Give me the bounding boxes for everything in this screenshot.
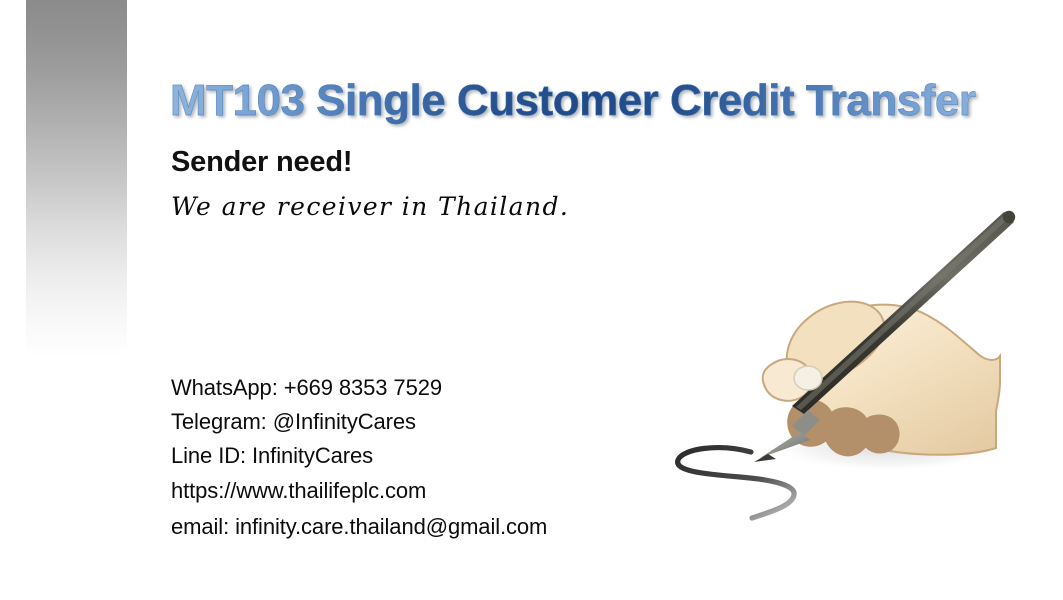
little-finger bbox=[860, 414, 899, 453]
pen-bead bbox=[794, 366, 822, 390]
page-title: MT103 Single Customer Credit Transfer bbox=[170, 78, 1010, 125]
contact-whatsapp: WhatsApp: +669 8353 7529 bbox=[171, 371, 547, 405]
left-gradient-bar bbox=[26, 0, 127, 356]
contact-email[interactable]: email: infinity.care.thailand@gmail.com bbox=[171, 509, 547, 545]
signature-squiggle bbox=[678, 448, 795, 518]
slide-canvas: MT103 Single Customer Credit Transfer Se… bbox=[0, 0, 1063, 600]
contact-telegram: Telegram: @InfinityCares bbox=[171, 405, 547, 439]
contact-block: WhatsApp: +669 8353 7529 Telegram: @Infi… bbox=[171, 371, 547, 545]
headline-text: Sender need! bbox=[171, 146, 352, 179]
hand-writing-with-pen-illustration bbox=[648, 196, 1048, 526]
contact-line-id: Line ID: InfinityCares bbox=[171, 439, 547, 473]
subtitle-script-text: We are receiver in Thailand. bbox=[171, 192, 569, 221]
contact-website[interactable]: https://www.thailifeplc.com bbox=[171, 473, 547, 509]
pen-end-cap bbox=[1003, 211, 1015, 223]
